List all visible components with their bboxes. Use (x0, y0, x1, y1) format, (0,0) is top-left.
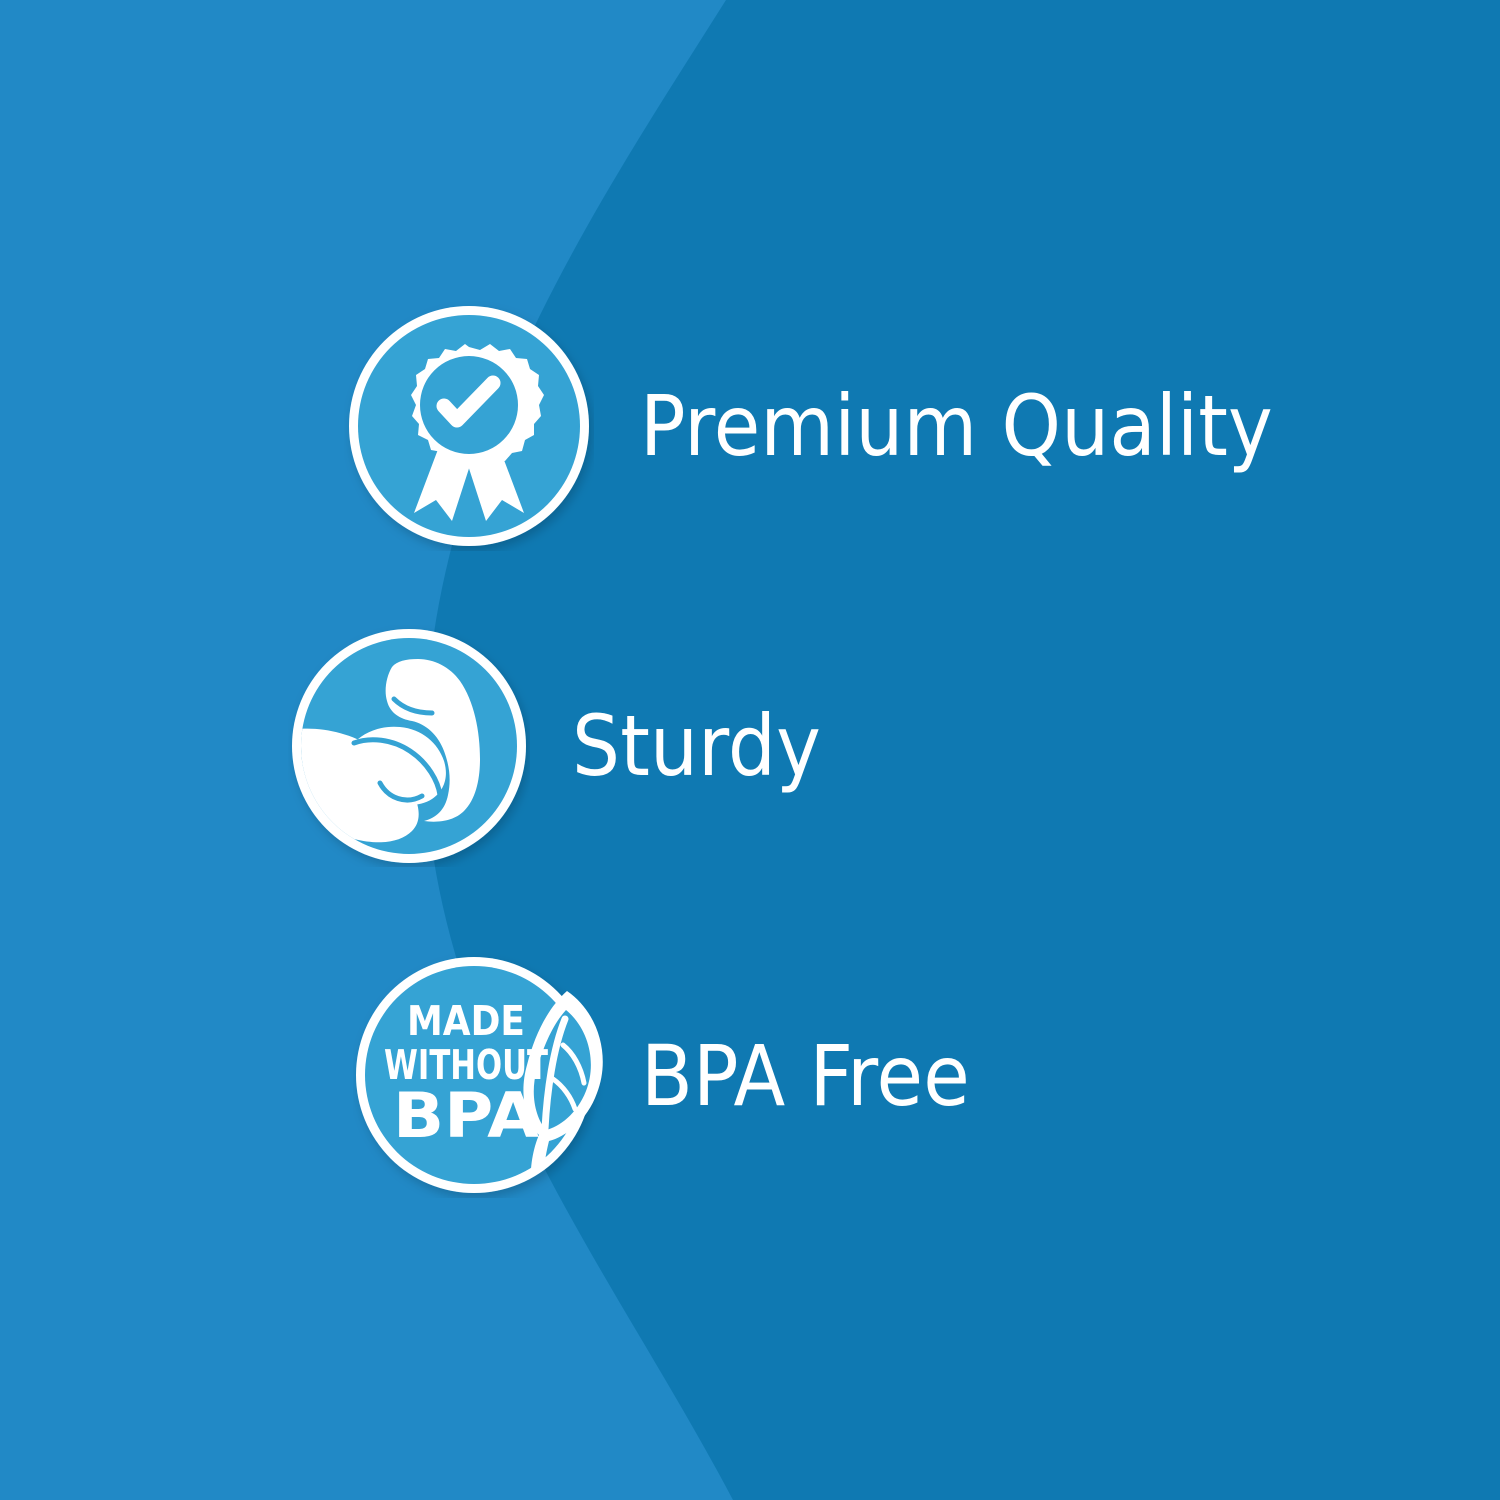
badge-premium-quality (344, 301, 594, 551)
feature-label-premium-quality: Premium Quality (640, 384, 1273, 468)
feature-row-premium-quality: Premium Quality (344, 301, 1273, 551)
feature-badges-panel: Premium Quality (0, 0, 1500, 1500)
feature-label-sturdy: Sturdy (572, 704, 821, 788)
award-rosette-check-icon (344, 301, 594, 551)
made-without-bpa-leaf-icon: MADE WITHOUT BPA (353, 953, 623, 1198)
flexed-bicep-icon (288, 625, 530, 867)
feature-row-sturdy: Sturdy (288, 625, 821, 867)
badge-bpa-free: MADE WITHOUT BPA (353, 953, 623, 1198)
badge-text-line-3: BPA (393, 1079, 539, 1152)
feature-row-bpa-free: MADE WITHOUT BPA BPA Free (353, 953, 970, 1198)
badge-text-line-1: MADE (407, 997, 525, 1045)
badge-sturdy (288, 625, 530, 867)
feature-label-bpa-free: BPA Free (641, 1034, 970, 1118)
